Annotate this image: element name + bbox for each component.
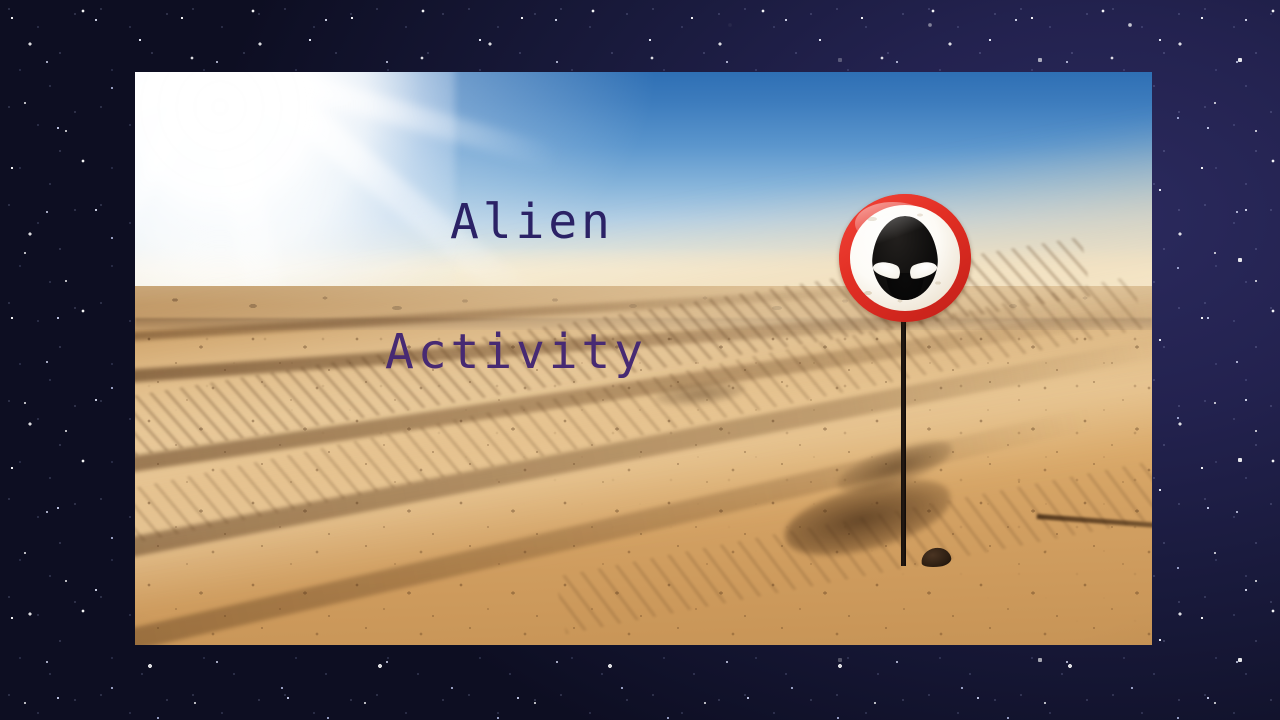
sign-post (901, 314, 906, 566)
sign-red-ring (839, 194, 971, 322)
title-card-stage: Alien Activity (0, 0, 1280, 720)
title-line-1: Alien (450, 198, 614, 246)
title-line-2: Activity (385, 328, 647, 376)
desert-road-photo: Alien Activity (135, 72, 1152, 645)
alien-warning-sign (837, 192, 977, 532)
sign-white-face (850, 205, 960, 311)
